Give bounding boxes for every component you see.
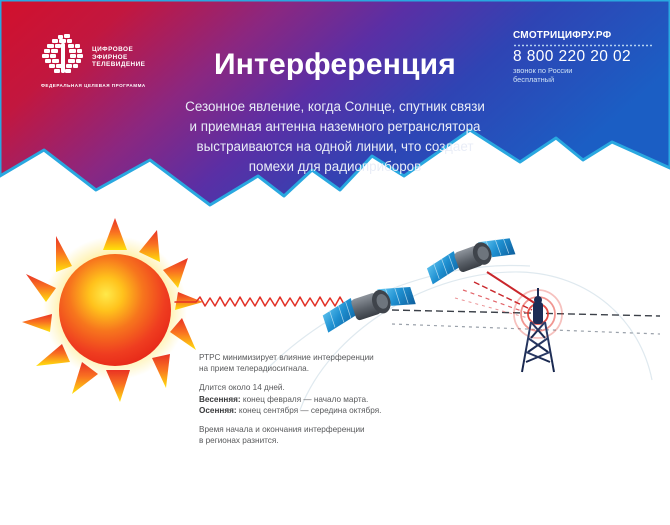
info-autumn-row: Осенняя: конец сентября — середина октяб… (199, 405, 444, 416)
page-title: Интерференция (0, 48, 670, 82)
broadcast-tower (514, 288, 562, 372)
header-banner: ЦИФРОВОЕ ЭФИРНОЕ ТЕЛЕВИДЕНИЕ ФЕДЕРАЛЬНАЯ… (0, 0, 670, 215)
logo-program-label: ФЕДЕРАЛЬНАЯ ЦЕЛЕВАЯ ПРОГРАММА (41, 83, 146, 88)
info-spring-row: Весенняя: конец февраля — начало марта. (199, 394, 444, 405)
sun (22, 218, 203, 402)
info-spring-value: конец февраля — начало марта. (241, 395, 369, 404)
subtitle-line-1: Сезонное явление, когда Солнце, спутник … (85, 97, 585, 117)
site-url-link[interactable]: СМОТРИЦИФРУ.РФ (513, 30, 653, 41)
info-paragraph-2: Длится около 14 дней. Весенняя: конец фе… (199, 382, 444, 416)
info-autumn-value: конец сентября — середина октября. (237, 406, 382, 415)
subtitle-line-4: помехи для радиоприборов (85, 157, 585, 177)
info-paragraph-3: Время начала и окончания интерференции в… (199, 424, 444, 446)
subtitle-line-3: выстраиваются на одной линии, что создае… (85, 137, 585, 157)
info-paragraph-1: РТРС минимизирует влияние интерференции … (199, 352, 444, 374)
signal-dashed-lower (392, 310, 660, 334)
page-subtitle: Сезонное явление, когда Солнце, спутник … (85, 97, 585, 177)
info-p1-line2: на прием телерадиосигнала. (199, 363, 444, 374)
dotted-divider (513, 44, 653, 47)
info-duration: Длится около 14 дней. (199, 382, 444, 393)
info-p1-line1: РТРС минимизирует влияние интерференции (199, 352, 444, 363)
info-p3-line2: в регионах разнится. (199, 435, 444, 446)
info-spring-label: Весенняя: (199, 395, 241, 404)
info-autumn-label: Осенняя: (199, 406, 237, 415)
info-p3-line1: Время начала и окончания интерференции (199, 424, 444, 435)
info-text-block: РТРС минимизирует влияние интерференции … (199, 352, 444, 446)
subtitle-line-2: и приемная антенна наземного ретранслято… (85, 117, 585, 137)
